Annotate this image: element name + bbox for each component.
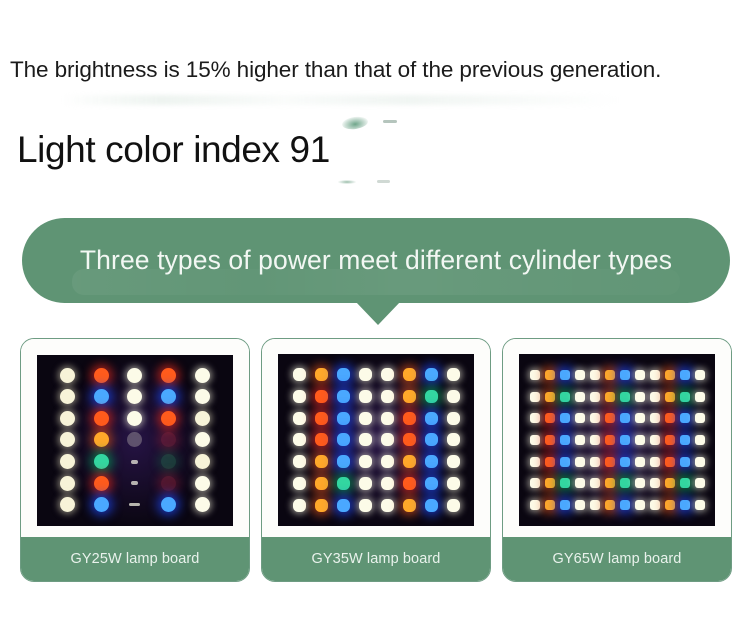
led-cell [662,407,677,429]
led-cell [442,407,464,429]
led-g [560,392,570,402]
led-w [447,455,460,468]
led-cell [677,386,692,408]
led-o [315,477,328,490]
led-r [161,368,176,383]
led-b [425,477,438,490]
led-o [665,392,675,402]
led-b [560,435,570,445]
led-r [665,457,675,467]
led-ww [60,476,75,491]
led-cell [602,386,617,408]
led-w [293,390,306,403]
banner-body: Three types of power meet different cyli… [22,218,730,303]
led-w [359,455,372,468]
led-w [359,499,372,512]
led-cell [288,494,310,516]
led-cell [647,407,662,429]
led-w [590,457,600,467]
led-b [560,457,570,467]
led-cell [617,494,632,516]
led-o [665,478,675,488]
led-cell [647,364,662,386]
led-cell [587,451,602,473]
led-b [94,389,109,404]
led-cell [557,386,572,408]
led-ww [60,389,75,404]
led-cell [677,429,692,451]
led-w [650,413,660,423]
led-w [590,392,600,402]
led-b [680,370,690,380]
led-r [94,476,109,491]
led-cell [332,364,354,386]
led-w [359,412,372,425]
led-o [315,499,328,512]
led-w [635,457,645,467]
led-w [359,477,372,490]
led-cell [354,386,376,408]
led-cell [398,429,420,451]
led-w [650,392,660,402]
led-cell [85,408,119,430]
led-r [315,412,328,425]
led-b [680,413,690,423]
led-cell [152,408,186,430]
led-cell [557,364,572,386]
led-b [425,368,438,381]
led-grid-25w [37,355,233,526]
led-cell [118,365,152,387]
led-cell [617,473,632,495]
led-cell [118,429,152,451]
power-types-banner: Three types of power meet different cyli… [22,218,730,303]
led-g [94,454,109,469]
led-cell [632,386,647,408]
led-w [695,478,705,488]
led-cell [587,429,602,451]
led-cell [420,451,442,473]
led-dash [129,503,140,506]
led-ww [60,497,75,512]
led-cell [310,407,332,429]
led-w [635,413,645,423]
led-cell [677,364,692,386]
led-w [293,499,306,512]
led-cell [332,494,354,516]
led-g [337,477,350,490]
led-cell [617,386,632,408]
led-cell [572,364,587,386]
led-o [315,368,328,381]
led-cell [662,451,677,473]
led-cell [152,451,186,473]
led-ww [60,454,75,469]
led-w [650,478,660,488]
led-b [560,370,570,380]
led-w [635,392,645,402]
led-b [337,433,350,446]
led-cell [376,473,398,495]
led-cell [398,494,420,516]
led-b [620,500,630,510]
led-cell [185,429,219,451]
led-cell [527,494,542,516]
led-cell [692,386,707,408]
led-w [575,478,585,488]
led-w [635,370,645,380]
led-w [195,368,210,383]
led-cell [118,408,152,430]
led-cell [542,473,557,495]
led-cell [420,407,442,429]
led-cell [572,386,587,408]
led-cell [398,407,420,429]
lamp-board-card[interactable]: GY65W lamp board [502,338,732,582]
led-cell [288,473,310,495]
led-b [337,368,350,381]
led-cell [662,429,677,451]
led-cell [442,364,464,386]
led-r [315,390,328,403]
led-w [447,477,460,490]
led-grid-35w [278,354,474,526]
led-b [680,457,690,467]
led-b [337,455,350,468]
led-b [620,457,630,467]
led-cell [332,451,354,473]
led-w [447,433,460,446]
led-r [545,435,555,445]
led-cell [118,386,152,408]
led-w [575,413,585,423]
led-w [381,499,394,512]
lamp-board-photo [21,339,249,537]
led-w [590,435,600,445]
led-cell [617,407,632,429]
led-cell [442,429,464,451]
led-cell [288,451,310,473]
led-cell [677,407,692,429]
led-cell [85,451,119,473]
watermark-residue-dash-bottom-right [377,180,390,183]
led-cell [557,494,572,516]
led-cell [632,473,647,495]
led-b [560,500,570,510]
lamp-board-label: GY35W lamp board [262,537,490,581]
led-cell [310,386,332,408]
led-cell [647,429,662,451]
led-cell [152,365,186,387]
led-cell [376,451,398,473]
led-cell [542,429,557,451]
led-cell [51,408,85,430]
led-g [425,390,438,403]
led-ww [195,454,210,469]
led-w [650,457,660,467]
led-cell [442,451,464,473]
led-cell [152,494,186,516]
led-r [665,435,675,445]
led-r [665,413,675,423]
led-o [665,500,675,510]
led-cell [185,365,219,387]
led-cell [557,473,572,495]
led-cell [542,386,557,408]
led-o [545,370,555,380]
led-cell [376,407,398,429]
led-g [560,478,570,488]
led-b [560,413,570,423]
led-cell [442,494,464,516]
led-o [665,370,675,380]
lamp-board-label: GY65W lamp board [503,537,731,581]
led-cell [632,494,647,516]
led-r [94,411,109,426]
led-cell [527,473,542,495]
led-w [635,500,645,510]
led-cell [118,451,152,473]
led-w [695,370,705,380]
led-cell [602,494,617,516]
led-o [403,455,416,468]
led-w [575,435,585,445]
led-cell [376,429,398,451]
led-dim [127,432,142,447]
led-b [680,500,690,510]
led-cell [152,386,186,408]
led-cell [587,407,602,429]
led-w [381,390,394,403]
led-cell [662,386,677,408]
led-w [293,412,306,425]
led-r [161,411,176,426]
led-b [680,435,690,445]
led-b [337,390,350,403]
led-cell [692,364,707,386]
led-cell [288,429,310,451]
led-ww [60,368,75,383]
led-cell [677,494,692,516]
led-w [635,435,645,445]
led-cell [118,494,152,516]
led-ww [60,411,75,426]
led-cell [527,407,542,429]
banner-title: Three types of power meet different cyli… [80,245,672,276]
led-r [403,477,416,490]
led-cell [310,494,332,516]
led-cell [420,364,442,386]
led-cell [572,473,587,495]
led-cell [288,407,310,429]
led-r [545,457,555,467]
led-cell [602,473,617,495]
led-o [403,368,416,381]
led-b [425,499,438,512]
led-cell [662,494,677,516]
led-cell [354,429,376,451]
led-cell [152,472,186,494]
led-o [403,390,416,403]
led-cell [572,451,587,473]
led-cell [376,364,398,386]
led-w [359,390,372,403]
led-cell [617,364,632,386]
led-w [381,455,394,468]
led-w [127,411,142,426]
led-cell [51,451,85,473]
led-cell [51,429,85,451]
lamp-board-card[interactable]: GY25W lamp board [20,338,250,582]
led-faint-r [161,432,176,447]
led-cell [542,494,557,516]
led-o [315,455,328,468]
led-w [195,389,210,404]
led-faint-r [161,476,176,491]
led-w [575,370,585,380]
led-o [545,500,555,510]
led-o [94,432,109,447]
led-cell [677,451,692,473]
led-cell [442,473,464,495]
led-cell [572,429,587,451]
lamp-board-label: GY25W lamp board [21,537,249,581]
led-cell [587,494,602,516]
led-cell [662,473,677,495]
watermark-residue-dash-top [383,120,397,123]
led-cell [557,407,572,429]
led-cell [692,494,707,516]
led-b [425,433,438,446]
led-cell [572,494,587,516]
led-cell [51,494,85,516]
led-w [381,433,394,446]
led-cell [398,473,420,495]
led-r [545,413,555,423]
led-w [293,368,306,381]
led-cell [647,494,662,516]
led-w [530,413,540,423]
led-cell [354,494,376,516]
led-cell [662,364,677,386]
led-cell [354,451,376,473]
led-cell [310,429,332,451]
led-grid-65w [519,354,715,526]
led-cell [692,451,707,473]
led-cell [442,386,464,408]
led-faint-g [161,454,176,469]
led-b [94,497,109,512]
led-o [605,478,615,488]
lamp-board-card-row: GY25W lamp board GY35W lamp board GY65W … [20,338,732,582]
led-o [403,499,416,512]
led-cell [332,429,354,451]
led-cell [85,472,119,494]
led-b [337,499,350,512]
led-cell [332,473,354,495]
led-cell [617,429,632,451]
led-cell [647,386,662,408]
led-cell [354,407,376,429]
led-cell [692,407,707,429]
led-cell [420,429,442,451]
led-cell [692,429,707,451]
led-w [447,412,460,425]
led-w [695,435,705,445]
led-w [650,435,660,445]
led-cell [632,364,647,386]
led-cell [310,364,332,386]
lamp-board-photo [262,339,490,537]
led-cell [152,429,186,451]
led-b [161,497,176,512]
led-cell [332,407,354,429]
led-w [447,368,460,381]
led-w [590,370,600,380]
lamp-board-card[interactable]: GY35W lamp board [261,338,491,582]
led-w [530,457,540,467]
led-cell [587,364,602,386]
led-cell [118,472,152,494]
led-w [195,497,210,512]
led-ww [195,411,210,426]
led-w [650,370,660,380]
led-o [605,370,615,380]
led-r [403,412,416,425]
led-w [359,433,372,446]
led-cell [420,494,442,516]
led-o [545,478,555,488]
led-cell [647,451,662,473]
banner-pointer-triangle [355,301,401,325]
led-w [695,500,705,510]
led-cell [632,429,647,451]
led-w [590,478,600,488]
led-w [293,455,306,468]
led-w [381,412,394,425]
led-cell [51,365,85,387]
led-o [605,500,615,510]
led-cell [185,472,219,494]
led-r [605,457,615,467]
led-cell [632,451,647,473]
led-w [293,433,306,446]
led-w [590,413,600,423]
led-g [680,392,690,402]
led-cell [354,473,376,495]
led-cell [542,451,557,473]
led-cell [602,364,617,386]
led-w [575,392,585,402]
led-b [620,370,630,380]
led-g [620,392,630,402]
led-w [695,457,705,467]
led-w [359,368,372,381]
led-cell [617,451,632,473]
lamp-board-photo [503,339,731,537]
led-cell [354,364,376,386]
led-cell [85,365,119,387]
watermark-residue-dash-bottom-left [338,180,356,184]
led-cell [310,473,332,495]
led-r [403,433,416,446]
led-tiny [131,460,138,464]
led-cell [542,364,557,386]
led-w [447,499,460,512]
led-cell [420,473,442,495]
led-w [447,390,460,403]
color-index-headline: Light color index 91 [17,127,330,173]
